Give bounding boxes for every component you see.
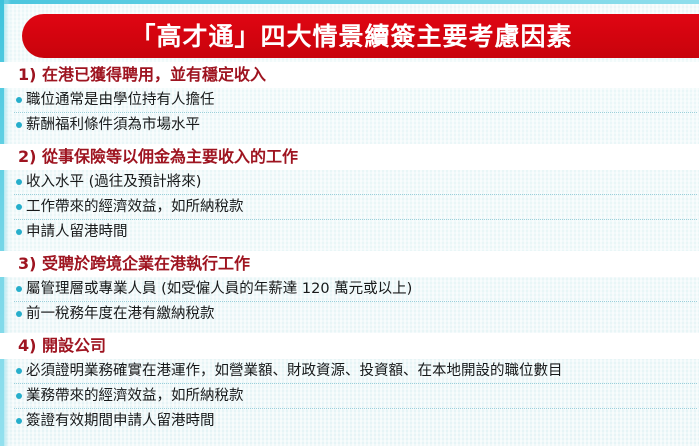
- section-gap: [0, 137, 699, 144]
- bullet-dot-icon: [16, 393, 22, 399]
- bullet-item: 申請人留港時間: [0, 220, 699, 244]
- bullet-dot-icon: [16, 311, 22, 317]
- section: 2) 從事保險等以佣金為主要收入的工作收入水平 (過往及預計將來)工作帶來的經濟…: [0, 144, 699, 251]
- sections-container: 1) 在港已獲得聘用，並有穩定收入職位通常是由學位持有人擔任薪酬福利條件須為市場…: [0, 62, 699, 433]
- bullet-list: 收入水平 (過往及預計將來)工作帶來的經濟效益，如所納稅款申請人留港時間: [0, 170, 699, 244]
- bullet-text: 申請人留港時間: [26, 225, 128, 240]
- section: 3) 受聘於跨境企業在港執行工作屬管理層或專業人員 (如受僱人員的年薪達 120…: [0, 251, 699, 333]
- section: 4) 開設公司必須證明業務確實在港運作，如營業額、財政資源、投資額、在本地開設的…: [0, 333, 699, 433]
- bullet-list: 屬管理層或專業人員 (如受僱人員的年薪達 120 萬元或以上)前一稅務年度在港有…: [0, 277, 699, 326]
- bullet-dot-icon: [16, 97, 22, 103]
- bullet-item: 簽證有效期間申請人留港時間: [0, 409, 699, 433]
- bullet-list: 職位通常是由學位持有人擔任薪酬福利條件須為市場水平: [0, 88, 699, 137]
- bullet-list: 必須證明業務確實在港運作，如營業額、財政資源、投資額、在本地開設的職位數目業務帶…: [0, 359, 699, 433]
- section-gap: [0, 244, 699, 251]
- bullet-item: 屬管理層或專業人員 (如受僱人員的年薪達 120 萬元或以上): [0, 277, 699, 301]
- bullet-item: 前一稅務年度在港有繳納稅款: [0, 302, 699, 326]
- bullet-item: 必須證明業務確實在港運作，如營業額、財政資源、投資額、在本地開設的職位數目: [0, 359, 699, 383]
- bullet-item: 工作帶來的經濟效益，如所納稅款: [0, 195, 699, 219]
- section: 1) 在港已獲得聘用，並有穩定收入職位通常是由學位持有人擔任薪酬福利條件須為市場…: [0, 62, 699, 144]
- infographic-canvas: 「高才通」四大情景續簽主要考慮因素 1) 在港已獲得聘用，並有穩定收入職位通常是…: [0, 0, 699, 446]
- section-heading-text: 1) 在港已獲得聘用，並有穩定收入: [18, 67, 266, 83]
- section-heading-text: 4) 開設公司: [18, 338, 106, 354]
- bullet-text: 簽證有效期間申請人留港時間: [26, 414, 215, 429]
- section-heading-text: 3) 受聘於跨境企業在港執行工作: [18, 256, 250, 272]
- bullet-dot-icon: [16, 368, 22, 374]
- section-heading-text: 2) 從事保險等以佣金為主要收入的工作: [18, 149, 298, 165]
- bullet-text: 薪酬福利條件須為市場水平: [26, 118, 200, 133]
- page-title: 「高才通」四大情景續簽主要考慮因素: [130, 24, 590, 49]
- bullet-item: 收入水平 (過往及預計將來): [0, 170, 699, 194]
- bullet-dot-icon: [16, 179, 22, 185]
- bullet-text: 必須證明業務確實在港運作，如營業額、財政資源、投資額、在本地開設的職位數目: [26, 364, 563, 379]
- bullet-text: 工作帶來的經濟效益，如所納稅款: [26, 200, 244, 215]
- section-heading: 4) 開設公司: [0, 333, 699, 359]
- bullet-item: 業務帶來的經濟效益，如所納稅款: [0, 384, 699, 408]
- bullet-item: 職位通常是由學位持有人擔任: [0, 88, 699, 112]
- section-heading: 3) 受聘於跨境企業在港執行工作: [0, 251, 699, 277]
- top-accent-bar: [0, 0, 699, 4]
- title-banner: 「高才通」四大情景續簽主要考慮因素: [22, 14, 699, 58]
- bullet-item: 薪酬福利條件須為市場水平: [0, 113, 699, 137]
- section-heading: 1) 在港已獲得聘用，並有穩定收入: [0, 62, 699, 88]
- bullet-text: 屬管理層或專業人員 (如受僱人員的年薪達 120 萬元或以上): [26, 282, 412, 297]
- bullet-dot-icon: [16, 204, 22, 210]
- bullet-dot-icon: [16, 418, 22, 424]
- bullet-dot-icon: [16, 286, 22, 292]
- section-gap: [0, 326, 699, 333]
- bullet-text: 收入水平 (過往及預計將來): [26, 175, 201, 190]
- bullet-text: 職位通常是由學位持有人擔任: [26, 93, 215, 108]
- bullet-dot-icon: [16, 122, 22, 128]
- bullet-text: 前一稅務年度在港有繳納稅款: [26, 307, 215, 322]
- section-heading: 2) 從事保險等以佣金為主要收入的工作: [0, 144, 699, 170]
- bullet-dot-icon: [16, 229, 22, 235]
- bullet-text: 業務帶來的經濟效益，如所納稅款: [26, 389, 244, 404]
